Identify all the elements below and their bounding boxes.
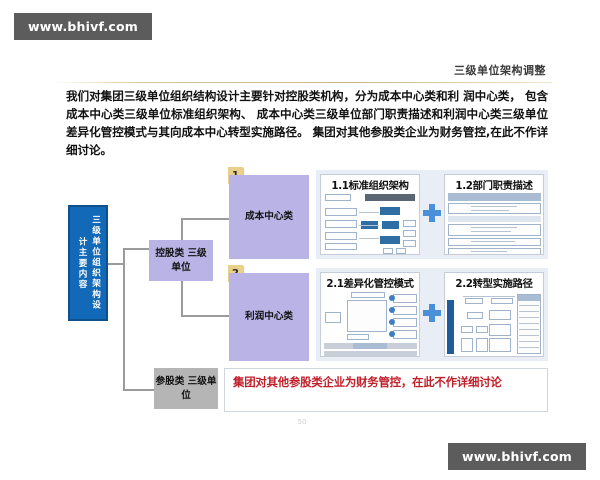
root-node-box[interactable]: 三级单位组织架构设计主要内容 [68, 205, 108, 321]
thumbnail-group-2: 2.1差异化管控模式 [316, 268, 548, 361]
connector-holding-down [181, 281, 183, 316]
thumbnail-2-2[interactable]: 2.2转型实施路径 [444, 272, 544, 357]
page-title: 三级单位架构调整 [454, 62, 546, 78]
watermark-bottom: www.bhivf.com [448, 443, 586, 470]
connector-root-out [108, 263, 124, 265]
thumbnail-1-1[interactable]: 1.1标准组织架构 [320, 174, 420, 255]
node-cost-center[interactable]: 成本中心类 [229, 175, 309, 259]
watermark-top: www.bhivf.com [14, 13, 152, 40]
node-profit-center[interactable]: 利润中心类 [229, 273, 309, 361]
thumbnail-2-1-title: 2.1差异化管控模式 [321, 275, 419, 290]
thumbnail-1-1-title: 1.1标准组织架构 [321, 177, 419, 192]
node-holding-label: 控股类 三级单位 [149, 247, 213, 275]
thumbnail-1-2-body [445, 192, 543, 254]
connector-to-holding [123, 248, 150, 250]
slide-canvas: 三级单位架构调整 我们对集团三级单位组织结构设计主要针对控股类机构，分为成本中心… [52, 56, 552, 436]
title-divider [52, 82, 552, 83]
node-holding-unit[interactable]: 控股类 三级单位 [149, 240, 213, 281]
node-minority-unit[interactable]: 参股类 三级单位 [154, 368, 218, 409]
watermark-top-text: www.bhivf.com [28, 19, 138, 34]
watermark-bottom-text: www.bhivf.com [462, 449, 572, 464]
page-number: 50 [52, 418, 552, 426]
connector-trunk-vertical [123, 248, 125, 390]
thumbnail-2-1[interactable]: 2.1差异化管控模式 [320, 272, 420, 357]
node-minority-label: 参股类 三级单位 [154, 375, 218, 403]
connector-holding-down-h [181, 315, 229, 317]
thumbnail-2-1-body [321, 290, 419, 356]
callout-text: 集团对其他参股类企业为财务管控，在此不作详细讨论 [233, 374, 540, 391]
thumbnail-1-1-body [321, 192, 419, 254]
thumbnail-group-1: 1.1标准组织架构 [316, 170, 548, 259]
node-cost-center-label: 成本中心类 [245, 210, 293, 224]
thumbnail-1-2[interactable]: 1.2部门职责描述 [444, 174, 544, 255]
plus-icon [423, 204, 441, 222]
root-node-label: 三级单位组织架构设计主要内容 [75, 211, 102, 315]
thumbnail-2-2-title: 2.2转型实施路径 [445, 275, 543, 290]
plus-icon [423, 304, 441, 322]
thumbnail-1-2-title: 1.2部门职责描述 [445, 177, 543, 192]
org-structure-diagram: 三级单位组织架构设计主要内容 控股类 三级单位 参股类 三级单位 1 成本中心类… [52, 160, 552, 410]
thumbnail-2-2-body [445, 290, 543, 356]
connector-holding-up [181, 218, 183, 240]
callout-box: 集团对其他参股类企业为财务管控，在此不作详细讨论 [224, 368, 548, 412]
intro-paragraph: 我们对集团三级单位组织结构设计主要针对控股类机构，分为成本中心类和利 润中心类，… [66, 87, 548, 159]
connector-to-minority [123, 389, 155, 391]
connector-holding-up-h [181, 218, 229, 220]
node-profit-center-label: 利润中心类 [245, 310, 293, 324]
